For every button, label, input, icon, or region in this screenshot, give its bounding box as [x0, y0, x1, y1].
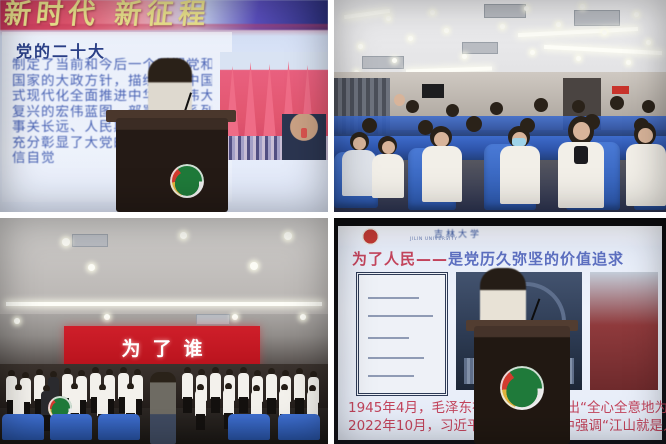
wall-monitor	[422, 84, 444, 98]
slide-document-image	[356, 272, 448, 396]
strip-light	[6, 302, 322, 306]
seat-row	[334, 116, 666, 136]
slide-header	[338, 226, 662, 246]
slide-title: 为了人民——是党历久弥坚的价值追求	[352, 248, 624, 269]
slide-inset-photo	[220, 52, 328, 160]
ceiling	[0, 218, 328, 314]
air-vent	[462, 42, 498, 54]
front-seat-row	[0, 410, 328, 444]
slide-title-main: 为了人民——	[352, 250, 448, 268]
panel-presentation-speaker: 吉林大学 JILIN UNIVERSITY 为了人民——是党历久弥坚的价值追求 …	[334, 218, 666, 444]
air-vent	[196, 314, 230, 325]
air-vent	[484, 4, 526, 18]
photo-collage: 新时代 新征程 党的二十大 制定了当前和今后一个时期党和 国家的大政方针，描绘了…	[0, 0, 666, 444]
slide-building-image	[590, 272, 658, 390]
exit-sign	[612, 86, 629, 94]
panel-choir: 为了谁	[0, 218, 328, 444]
podium	[116, 118, 228, 212]
air-vent	[72, 234, 108, 247]
necktie	[574, 146, 588, 164]
panel-audience	[334, 0, 666, 212]
panel-lecture-slide: 新时代 新征程 党的二十大 制定了当前和今后一个时期党和 国家的大政方针，描绘了…	[0, 0, 328, 212]
air-vent	[362, 56, 404, 69]
stage-banner-text: 新时代 新征程	[2, 0, 256, 34]
slide-figure	[282, 114, 326, 160]
slide-title-sub: 是党历久弥坚的价值追求	[448, 250, 624, 268]
university-emblem-icon	[500, 366, 544, 410]
university-emblem-icon	[170, 164, 204, 198]
university-logo-icon	[362, 228, 379, 245]
slide-university-name-en: JILIN UNIVERSITY	[410, 237, 458, 242]
air-vent	[574, 10, 620, 26]
